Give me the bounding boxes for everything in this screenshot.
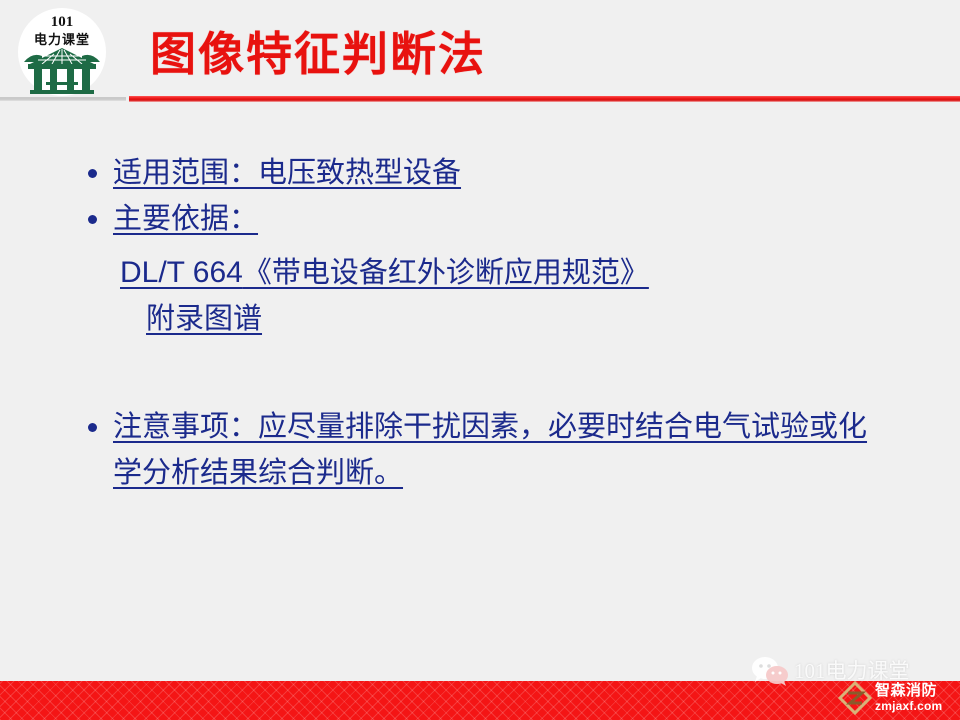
zhisen-logo-icon xyxy=(838,681,872,715)
brand-text-block: 智森消防 zmjaxf.com xyxy=(875,683,942,713)
standard-code: DL/T 664 xyxy=(120,256,243,289)
bullet-item-notes: 注意事项：应尽量排除干扰因素，必要时结合电气试验或化学分析结果综合判断。 xyxy=(0,404,960,496)
bullet-dot-icon xyxy=(88,423,97,432)
standard-reference: DL/T 664《带电设备红外诊断应用规范》 xyxy=(120,250,960,296)
bullet-text-basis: 主要依据： xyxy=(113,196,258,242)
bullet-item-basis: 主要依据： xyxy=(0,196,960,242)
page-title: 图像特征判断法 xyxy=(150,26,486,84)
organization-logo: 101 电力课堂 xyxy=(12,4,112,100)
bullet-item-scope: 适用范围：电压致热型设备 xyxy=(0,150,960,196)
brand-name: 智森消防 xyxy=(875,683,942,699)
bullet-dot-icon xyxy=(88,215,97,224)
bullet-text-notes: 注意事项：应尽量排除干扰因素，必要时结合电气试验或化学分析结果综合判断。 xyxy=(113,404,873,496)
standard-title: 《带电设备红外诊断应用规范》 xyxy=(243,257,649,289)
standard-appendix: 附录图谱 xyxy=(146,296,960,342)
slide-header: 101 电力课堂 xyxy=(0,0,960,104)
svg-text:101: 101 xyxy=(51,14,74,30)
slide-content: 适用范围：电压致热型设备 主要依据： DL/T 664《带电设备红外诊断应用规范… xyxy=(0,150,960,496)
slide: 101 电力课堂 xyxy=(0,0,960,720)
header-divider-red xyxy=(129,96,960,102)
header-divider-gray xyxy=(0,97,126,101)
brand-url: zmjaxf.com xyxy=(875,699,942,713)
footer-red-bar xyxy=(0,681,960,720)
bullet-dot-icon xyxy=(88,169,97,178)
svg-text:电力课堂: 电力课堂 xyxy=(34,32,90,47)
bullet-text-scope: 适用范围：电压致热型设备 xyxy=(113,150,461,196)
sponsor-brand: 智森消防 zmjaxf.com xyxy=(838,678,960,718)
content-spacer xyxy=(0,342,960,404)
